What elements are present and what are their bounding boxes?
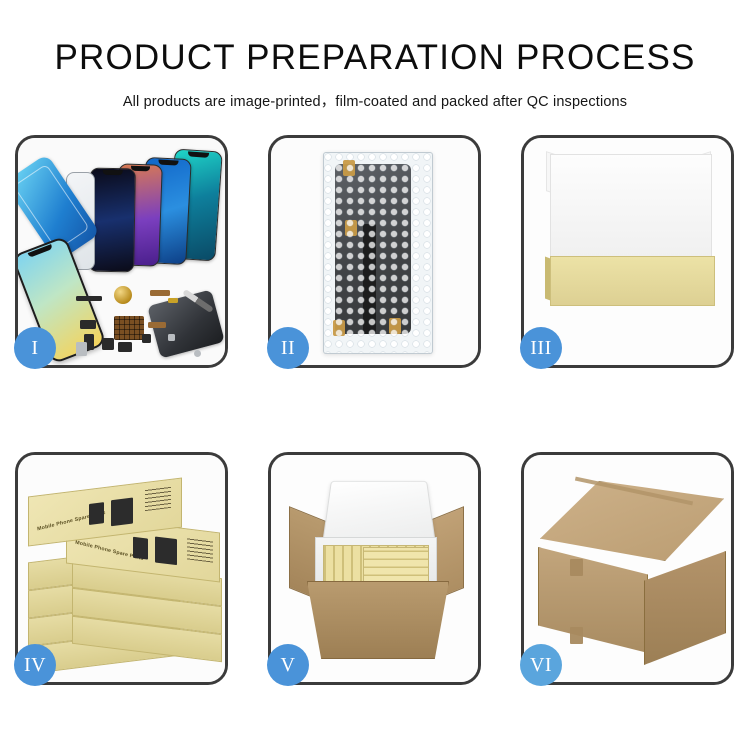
- step-badge-4: IV: [14, 644, 56, 686]
- step-badge-5: V: [267, 644, 309, 686]
- phone-dark-icon: [88, 168, 136, 273]
- box-swatch-top-1: [89, 502, 104, 525]
- tape-tab-bottom-right-icon: [389, 318, 401, 334]
- box-lid-icon: [550, 154, 712, 260]
- box-swatch-front-2: [155, 536, 177, 565]
- part-gold-icon: [168, 298, 178, 303]
- inner-boxes-row-2-icon: [363, 547, 429, 585]
- step-badge-3: III: [520, 327, 562, 369]
- tape-tab-top-icon: [343, 160, 355, 176]
- part-flex-icon: [150, 290, 170, 296]
- carton-front-face-icon: [538, 547, 648, 653]
- part-connector-icon: [80, 320, 96, 329]
- vibration-motor-icon: [114, 286, 132, 304]
- page-subtitle: All products are image-printed，film-coat…: [0, 77, 750, 111]
- box-specs-front: [187, 537, 213, 562]
- process-step-panel-1[interactable]: I: [15, 135, 228, 368]
- step-1-image: [18, 138, 225, 365]
- carton-side-face-icon: [644, 551, 726, 665]
- process-step-panel-3[interactable]: III: [521, 135, 734, 368]
- product-preparation-infographic: PRODUCT PREPARATION PROCESS All products…: [0, 0, 750, 750]
- step-3-image: [524, 138, 731, 365]
- process-step-grid: I II: [15, 135, 735, 685]
- tape-tab-bottom-left-icon: [333, 320, 345, 336]
- header: PRODUCT PREPARATION PROCESS All products…: [0, 0, 750, 111]
- box-specs-top: [145, 486, 171, 511]
- carton-tape-upper-icon: [570, 559, 583, 576]
- step-6-image: [524, 455, 731, 682]
- carton-top-face-icon: [540, 481, 724, 561]
- process-step-panel-4[interactable]: Mobile Phone Spare Parts Mobile Phone Sp…: [15, 452, 228, 685]
- part-sim-tray-icon: [76, 342, 87, 356]
- box-swatch-top-2: [111, 498, 133, 527]
- tape-tab-mid-icon: [345, 220, 357, 236]
- process-step-panel-6[interactable]: VI: [521, 452, 734, 685]
- step-badge-1: I: [14, 327, 56, 369]
- part-strip-icon: [76, 296, 102, 301]
- part-button-icon: [142, 334, 151, 343]
- step-5-image: [271, 455, 478, 682]
- part-speaker-icon: [102, 338, 114, 350]
- part-screw-icon: [168, 334, 175, 341]
- part-washer-icon: [194, 350, 201, 357]
- box-front-panel-icon: [550, 256, 715, 306]
- step-badge-2: II: [267, 327, 309, 369]
- step-4-image: Mobile Phone Spare Parts Mobile Phone Sp…: [18, 455, 225, 682]
- chip-array-icon: [114, 316, 144, 340]
- page-title: PRODUCT PREPARATION PROCESS: [0, 0, 750, 77]
- step-badge-6: VI: [520, 644, 562, 686]
- flex-cable-icon: [363, 224, 376, 334]
- foam-lid-icon: [322, 481, 435, 542]
- part-camera-icon: [118, 342, 132, 352]
- box-stack: Mobile Phone Spare Parts Mobile Phone Sp…: [26, 469, 222, 675]
- carton-tape-lower-icon: [570, 627, 583, 644]
- carton-body-icon: [307, 581, 449, 659]
- part-ribbon-icon: [148, 322, 166, 328]
- box-swatch-front-1: [133, 537, 148, 560]
- process-step-panel-2[interactable]: II: [268, 135, 481, 368]
- step-2-image: [271, 138, 478, 365]
- process-step-panel-5[interactable]: V: [268, 452, 481, 685]
